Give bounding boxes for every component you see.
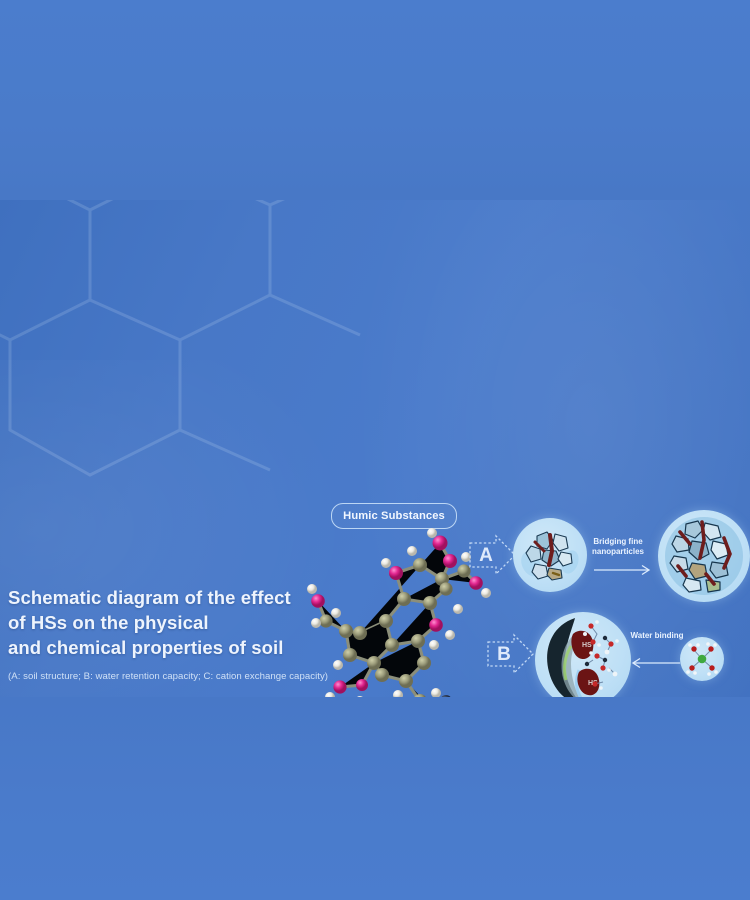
stage-arrow-a: A — [466, 533, 518, 577]
hexagon-lattice-watermark — [0, 200, 370, 490]
title-line-1: Schematic diagram of the effect — [8, 587, 291, 608]
caption-bridging-fine-nanoparticles: Bridging fine nanoparticles — [582, 537, 654, 557]
flow-arrow-b — [632, 657, 680, 669]
title-line-3: and chemical properties of soil — [8, 637, 284, 658]
background-band-main: Schematic diagram of the effect of HSs o… — [0, 200, 750, 697]
stage-arrow-b: B — [484, 632, 536, 676]
stage-letter-a: A — [474, 542, 498, 568]
caption-water-binding: Water binding — [626, 631, 688, 641]
svg-text:HS: HS — [582, 642, 592, 649]
title-line-2: of HSs on the physical — [8, 612, 209, 633]
background-band-bottom — [0, 697, 750, 900]
circle-soil-aggregate-bridged — [658, 510, 750, 602]
flow-arrow-a — [594, 564, 654, 576]
schematic-poster: Schematic diagram of the effect of HSs o… — [0, 0, 750, 900]
page-subtitle: (A: soil structure; B: water retention c… — [8, 670, 338, 683]
page-title: Schematic diagram of the effect of HSs o… — [8, 585, 338, 660]
circle-soil-aggregate-loose — [513, 518, 587, 592]
headline-block: Schematic diagram of the effect of HSs o… — [8, 585, 338, 697]
stage-letter-b: B — [492, 641, 516, 667]
humic-substances-label-text: Humic Substances — [343, 510, 445, 522]
circle-hydrated-cation — [680, 637, 724, 681]
circle-hs-water-retention: HS HS — [535, 612, 631, 697]
background-band-top — [0, 0, 750, 200]
